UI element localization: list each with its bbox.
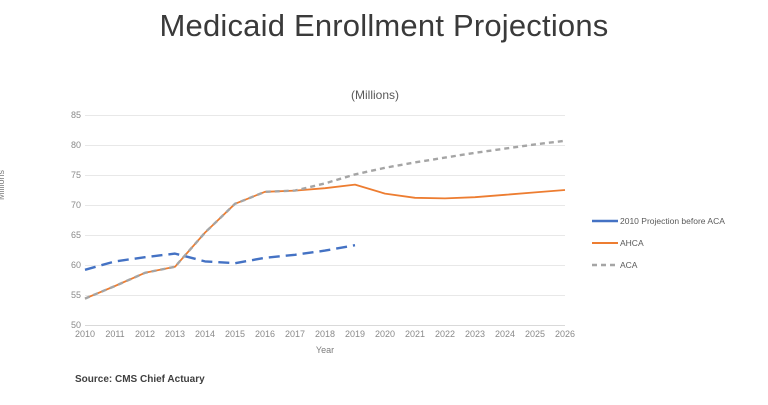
x-tick-label: 2025 xyxy=(525,329,545,339)
slide-canvas: Medicaid Enrollment Projections (Million… xyxy=(0,0,768,405)
x-tick-label: 2017 xyxy=(285,329,305,339)
x-tick-label: 2018 xyxy=(315,329,335,339)
x-axis-tick-labels: 2010201120122013201420152016201720182019… xyxy=(85,329,565,345)
x-tick-label: 2011 xyxy=(105,329,124,339)
legend-item[interactable]: 2010 Projection before ACA xyxy=(592,210,762,232)
line-chart: (Millions) Millions 5055606570758085 201… xyxy=(0,80,768,370)
x-tick-label: 2020 xyxy=(375,329,395,339)
x-tick-label: 2019 xyxy=(345,329,365,339)
x-axis-title: Year xyxy=(85,345,565,355)
chart-legend: 2010 Projection before ACAAHCAACA xyxy=(592,210,762,276)
legend-label: 2010 Projection before ACA xyxy=(618,216,725,226)
series-line xyxy=(85,141,565,299)
legend-swatch-icon xyxy=(592,215,618,227)
y-tick-label: 75 xyxy=(47,170,81,180)
x-tick-label: 2024 xyxy=(495,329,515,339)
x-tick-label: 2023 xyxy=(465,329,485,339)
x-tick-label: 2026 xyxy=(555,329,575,339)
y-tick-label: 85 xyxy=(47,110,81,120)
x-tick-label: 2016 xyxy=(255,329,275,339)
x-tick-label: 2022 xyxy=(435,329,455,339)
legend-swatch-icon xyxy=(592,237,618,249)
legend-swatch-icon xyxy=(592,259,618,271)
y-axis-title: Millions xyxy=(0,170,6,200)
legend-item[interactable]: AHCA xyxy=(592,232,762,254)
y-tick-label: 55 xyxy=(47,290,81,300)
x-tick-label: 2013 xyxy=(165,329,185,339)
x-tick-label: 2010 xyxy=(75,329,95,339)
chart-subtitle: (Millions) xyxy=(245,88,505,102)
y-tick-label: 70 xyxy=(47,200,81,210)
y-tick-label: 80 xyxy=(47,140,81,150)
series-line xyxy=(85,245,355,270)
plot-area xyxy=(85,115,565,325)
legend-label: ACA xyxy=(618,260,637,270)
x-tick-label: 2021 xyxy=(405,329,425,339)
y-axis-tick-labels: 5055606570758085 xyxy=(45,115,81,325)
series-lines xyxy=(85,115,565,325)
page-title: Medicaid Enrollment Projections xyxy=(0,8,768,44)
x-tick-label: 2015 xyxy=(225,329,245,339)
legend-item[interactable]: ACA xyxy=(592,254,762,276)
x-tick-label: 2012 xyxy=(135,329,155,339)
series-line xyxy=(85,185,565,299)
y-tick-label: 65 xyxy=(47,230,81,240)
source-note: Source: CMS Chief Actuary xyxy=(75,374,205,385)
x-tick-label: 2014 xyxy=(195,329,215,339)
y-tick-label: 60 xyxy=(47,260,81,270)
x-axis-line xyxy=(85,325,565,326)
legend-label: AHCA xyxy=(618,238,644,248)
